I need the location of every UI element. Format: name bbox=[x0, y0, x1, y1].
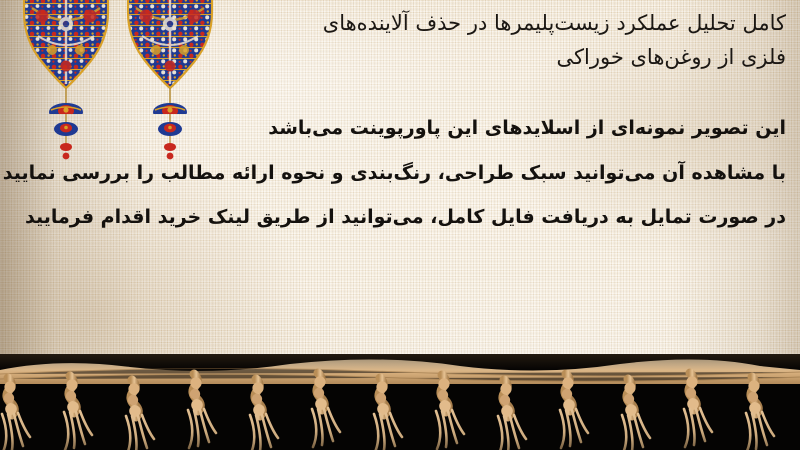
fringe-top-shadow bbox=[0, 354, 800, 370]
presentation-slide: کامل تحلیل عملکرد زیست‌پلیمرها در حذف آل… bbox=[0, 0, 800, 450]
slide-title-line-2: فلزی از روغن‌های خوراکی bbox=[232, 40, 786, 74]
slide-body-line-1: این تصویر نمونه‌ای از اسلایدهای این پاور… bbox=[14, 106, 786, 151]
slide-title: کامل تحلیل عملکرد زیست‌پلیمرها در حذف آل… bbox=[232, 6, 786, 74]
slide-body-line-3: در صورت تمایل به دریافت فایل کامل، می‌تو… bbox=[14, 195, 786, 240]
carpet-fringe-tassels bbox=[0, 354, 800, 450]
slide-body: این تصویر نمونه‌ای از اسلایدهای این پاور… bbox=[14, 106, 786, 240]
slide-body-line-2: با مشاهده آن می‌توانید سبک طراحی، رنگ‌بن… bbox=[14, 151, 786, 196]
slide-title-line-1: کامل تحلیل عملکرد زیست‌پلیمرها در حذف آل… bbox=[232, 6, 786, 40]
